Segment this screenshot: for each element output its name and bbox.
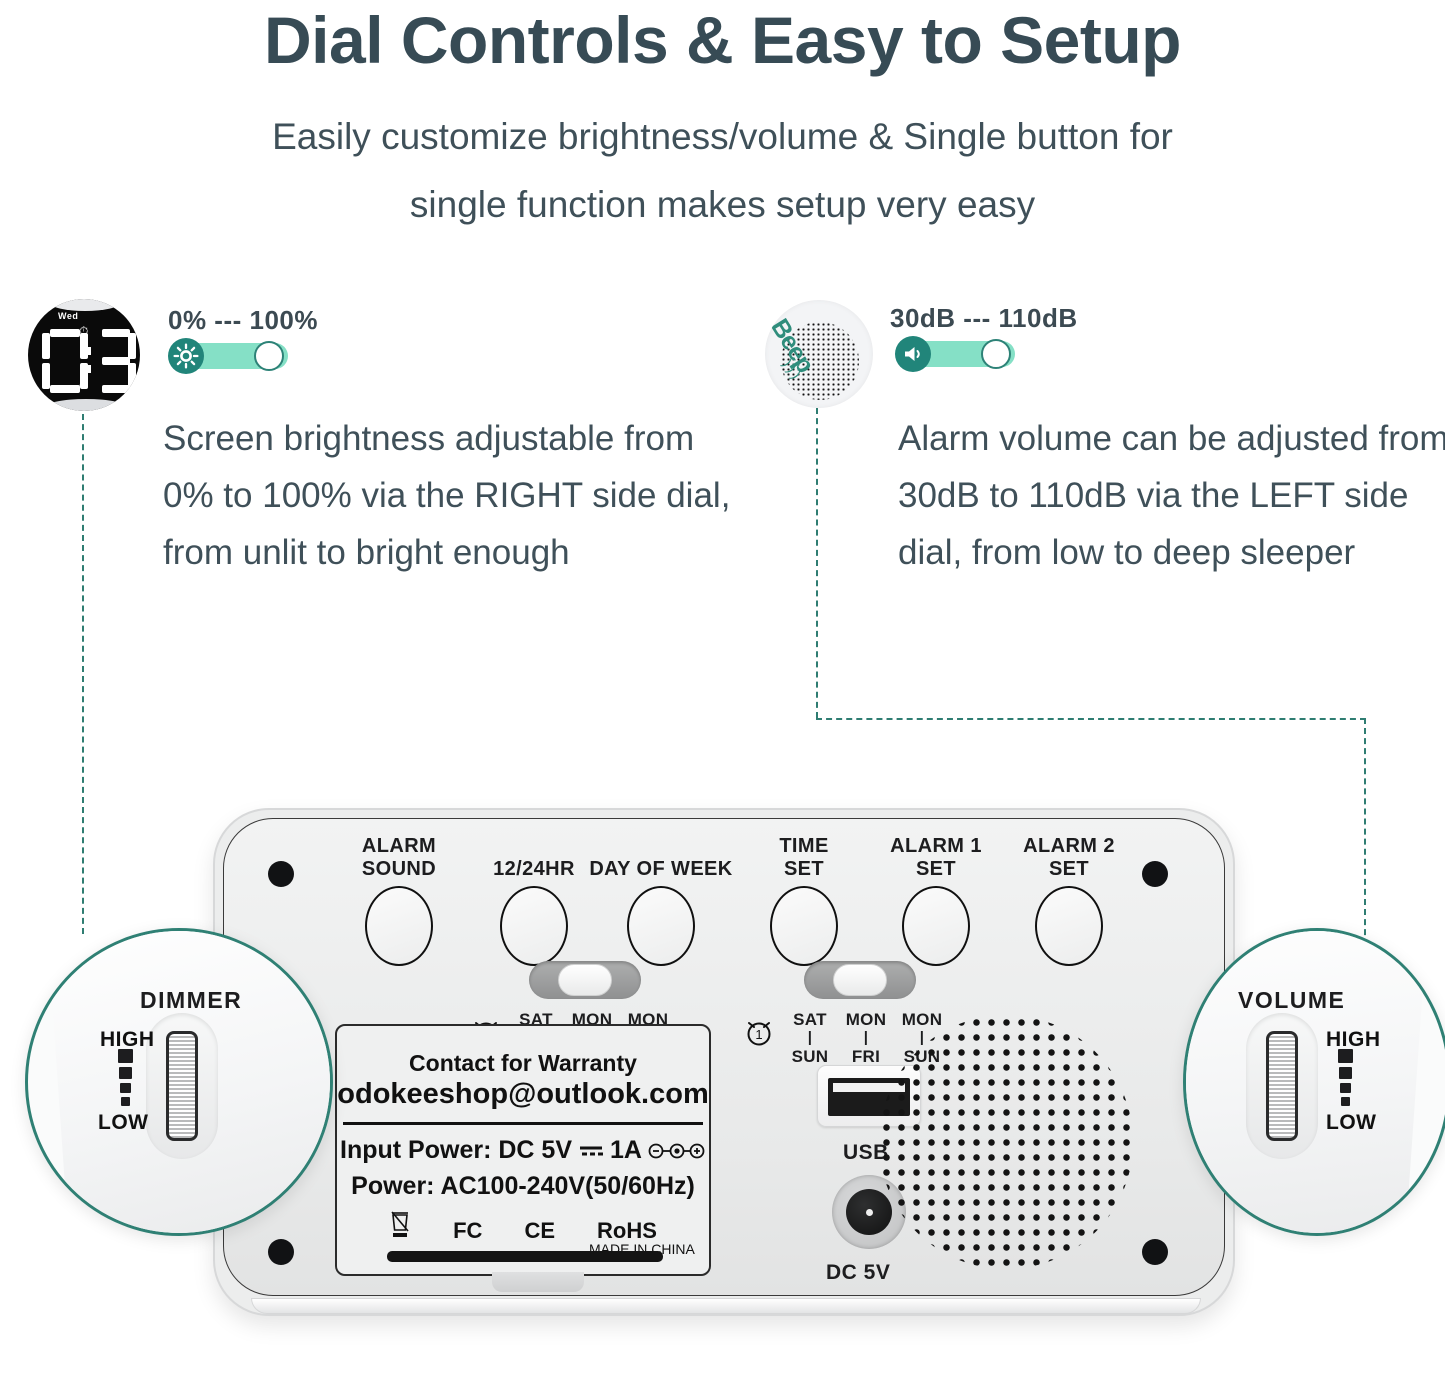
subtitle-line-2: single function makes setup very easy [160,171,1285,239]
subtitle-line-1: Easily customize brightness/volume & Sin… [160,103,1285,171]
led-seg-d-left [50,385,80,393]
ac-power-label: Power: AC100-240V(50/60Hz) [337,1172,709,1201]
dimmer-magnifier: DIMMER HIGH LOW [25,928,333,1236]
dc-jack-inner [846,1189,892,1235]
alarm1-opt-top-2: MON [900,1011,944,1028]
alarm-1-clock-icon: 1 [742,1015,776,1049]
button-alarm1-set-label: ALARM 1 SET [861,835,1011,881]
device-base-foot [251,1298,1201,1314]
led-colon-dot-upper [83,347,91,355]
dimmer-scale-bar-4 [121,1097,130,1106]
ce-mark: CE [524,1218,555,1244]
led-clock-thumbnail: Wed ⏱ ⏱ [22,297,146,417]
input-power-row: Input Power: DC 5V 1A [337,1136,709,1165]
volume-scale-bar-3 [1340,1083,1351,1093]
alarm1-opt-bot-0: SUN [788,1048,832,1065]
button-time-set-label: TIME SET [729,835,879,881]
device-inner-face: ALARM SOUND 12/24HR DAY OF WEEK TIME SET… [223,818,1225,1296]
alarm1-opt-top-1: MON [844,1011,888,1028]
led-seg-a-left [50,329,80,337]
button-time-set[interactable]: TIME SET [729,835,879,966]
led-seg-e-left [42,363,50,389]
volume-description: Alarm volume can be adjusted from 30dB t… [898,410,1445,581]
button-day-of-week-label: DAY OF WEEK [586,835,736,881]
dimmer-low-label: LOW [98,1111,148,1135]
connector-volume-vertical [816,408,818,718]
sun-icon [168,338,204,374]
volume-toggle[interactable] [895,336,1021,372]
led-seg-d-right [102,385,130,393]
dimmer-scale-bar-1 [118,1049,133,1063]
dc-symbol-icon [578,1143,604,1159]
button-12-24hr-knob[interactable] [500,886,568,966]
alarm-clock-back-panel: ALARM SOUND 12/24HR DAY OF WEEK TIME SET… [213,808,1235,1316]
button-alarm-sound-knob[interactable] [365,886,433,966]
screw-top-left [268,861,294,887]
led-weekday-label: Wed [58,311,78,321]
alarm1-ticks: | | | [788,1031,944,1045]
alarm-1-indicator-icon: ⏱ [79,325,88,337]
brightness-range-label: 0% --- 100% [168,305,318,336]
dimmer-scale-bar-2 [119,1067,132,1079]
connector-brightness-vertical [82,414,84,934]
speaker-icon [895,336,931,372]
rohs-mark-group: RoHS MADE IN CHINA [597,1218,657,1244]
infographic-page: Dial Controls & Easy to Setup Easily cus… [0,0,1445,1380]
alarm1-opt-bot-1: FRI [844,1048,888,1065]
dimmer-scale-bar-3 [120,1083,131,1093]
alarm2-day-switch[interactable] [529,961,641,999]
page-title: Dial Controls & Easy to Setup [0,2,1445,78]
screw-bottom-left [268,1239,294,1265]
volume-scale-bar-1 [1338,1049,1353,1063]
led-seg-b-right [128,333,136,359]
battery-compartment-slot [387,1251,663,1262]
page-subtitle: Easily customize brightness/volume & Sin… [160,103,1285,239]
svg-text:1: 1 [755,1027,762,1042]
warranty-email: odokeeshop@outlook.com [337,1078,709,1111]
alarm1-switch-knob[interactable] [833,964,887,996]
led-display-disc: Wed ⏱ ⏱ [28,299,140,411]
battery-compartment-tab [492,1272,584,1292]
warranty-title: Contact for Warranty [337,1050,709,1077]
alarm-2-indicator-icon: ⏱ [79,379,88,391]
rohs-mark: RoHS [597,1218,657,1243]
volume-magnifier: VOLUME HIGH LOW [1183,928,1445,1236]
volume-label: VOLUME [1238,987,1345,1014]
button-alarm2-set[interactable]: ALARM 2 SET [994,835,1144,966]
screw-bottom-right [1142,1239,1168,1265]
button-time-set-knob[interactable] [770,886,838,966]
screw-top-right [1142,861,1168,887]
button-day-of-week[interactable]: DAY OF WEEK [586,835,736,966]
button-alarm2-set-label: ALARM 2 SET [994,835,1144,881]
connector-volume-horizontal [816,718,1366,720]
alarm1-opt-top-0: SAT [788,1011,832,1028]
button-alarm-sound[interactable]: ALARM SOUND [324,835,474,966]
dimmer-wheel[interactable] [166,1031,198,1141]
button-day-of-week-knob[interactable] [627,886,695,966]
button-alarm-sound-label: ALARM SOUND [324,835,474,881]
led-sheen-bottom [44,399,128,411]
alarm2-switch-knob[interactable] [558,964,612,996]
led-colon-dot-lower [83,365,91,373]
led-seg-g-right [102,357,130,365]
alarm1-day-switch[interactable] [804,961,916,999]
led-seg-a-right [102,329,130,337]
brightness-toggle[interactable] [168,338,294,374]
speaker-grille [879,1015,1133,1269]
button-alarm1-set-knob[interactable] [902,886,970,966]
weee-bin-icon [389,1208,411,1244]
speaker-thumbnail: Beep ))) [765,300,873,408]
dc-port-label: DC 5V [826,1261,890,1285]
volume-low-label: LOW [1326,1111,1376,1135]
volume-toggle-knob[interactable] [981,339,1011,369]
led-sheen-top [50,299,120,311]
input-current-label: 1A [610,1136,642,1165]
input-power-label: Input Power: DC 5V [340,1136,572,1165]
brightness-toggle-knob[interactable] [254,341,284,371]
volume-scale-bar-2 [1339,1067,1352,1079]
alarm1-options-top: SAT MON MON [788,1011,944,1028]
button-alarm2-set-knob[interactable] [1035,886,1103,966]
brightness-description: Screen brightness adjustable from 0% to … [163,410,743,581]
button-alarm1-set[interactable]: ALARM 1 SET [861,835,1011,966]
polarity-icon [648,1142,706,1160]
volume-high-label: HIGH [1326,1028,1381,1052]
led-seg-f-left [42,333,50,359]
volume-range-label: 30dB --- 110dB [890,303,1078,334]
spec-divider [343,1122,703,1125]
dc-jack-pin [866,1209,873,1216]
volume-scale-bar-4 [1341,1097,1350,1106]
certification-row: FC CE RoHS MADE IN CHINA [337,1208,709,1244]
volume-wheel[interactable] [1266,1031,1298,1141]
dimmer-label: DIMMER [140,987,242,1014]
specification-panel: Contact for Warranty odokeeshop@outlook.… [335,1024,711,1276]
fcc-mark: FC [453,1218,482,1244]
